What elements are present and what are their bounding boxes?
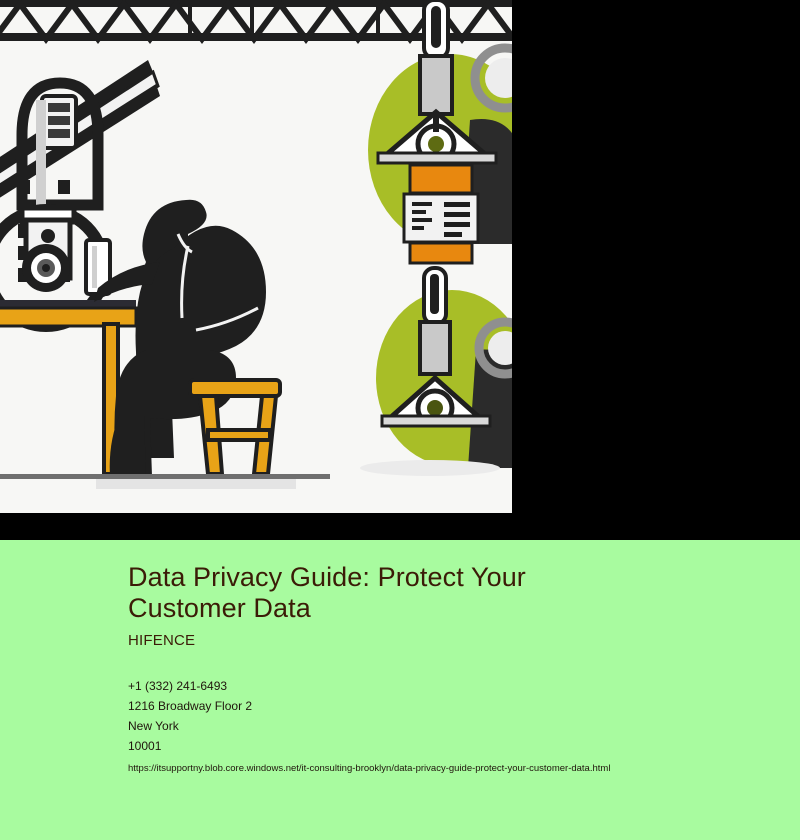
info-content: Data Privacy Guide: Protect Your Custome… <box>128 562 776 775</box>
floor-reflection-right <box>360 460 500 476</box>
contact-city: New York <box>128 716 776 736</box>
page-root: Data Privacy Guide: Protect Your Custome… <box>0 0 800 840</box>
document-url[interactable]: https://itsupportny.blob.core.windows.ne… <box>128 762 776 775</box>
cabinet-orange-top-upper <box>410 165 472 193</box>
brand-name: HIFENCE <box>128 632 776 650</box>
contact-street: 1216 Broadway Floor 2 <box>128 696 776 716</box>
workshop-illustration-svg <box>0 0 512 513</box>
hero-illustration <box>0 0 512 513</box>
info-panel: Data Privacy Guide: Protect Your Custome… <box>0 540 800 840</box>
cabinet-orange-bottom-upper <box>410 243 472 263</box>
contact-block: +1 (332) 241-6493 1216 Broadway Floor 2 … <box>128 676 776 756</box>
floor-line <box>0 474 330 479</box>
floor-shadow <box>96 479 296 489</box>
hero-letterbox-band <box>0 0 800 540</box>
contact-phone[interactable]: +1 (332) 241-6493 <box>128 676 776 696</box>
contact-postal-code: 10001 <box>128 736 776 756</box>
page-title: Data Privacy Guide: Protect Your Custome… <box>128 562 628 624</box>
